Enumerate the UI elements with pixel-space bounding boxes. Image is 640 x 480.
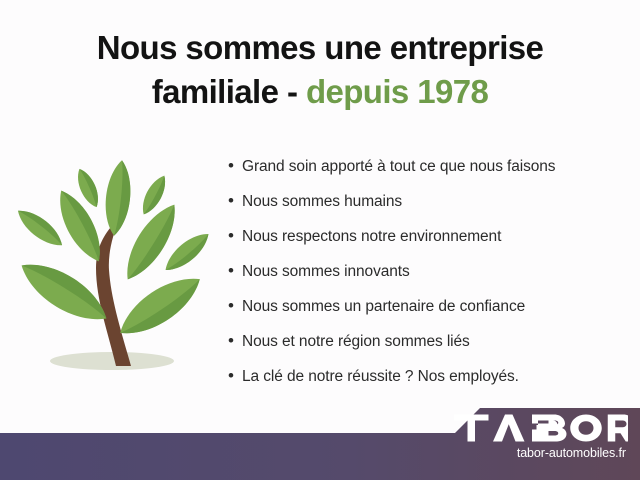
list-item-label: Nous et notre région sommes liés bbox=[242, 324, 470, 359]
footer-banner: tabor-automobiles.fr bbox=[0, 400, 640, 480]
headline-prefix-text: familiale bbox=[152, 73, 279, 110]
list-item: La clé de notre réussite ? Nos employés. bbox=[228, 358, 640, 393]
bullet-icon bbox=[228, 183, 242, 218]
page-title: Nous sommes une entreprise familiale - d… bbox=[0, 26, 640, 114]
bullet-icon bbox=[228, 288, 242, 323]
tree-trunk bbox=[96, 218, 131, 366]
list-item: Nous respectons notre environnement bbox=[228, 218, 640, 253]
bullet-icon bbox=[228, 253, 242, 288]
headline-dash: - bbox=[287, 73, 297, 110]
list-item-label: Nous respectons notre environnement bbox=[242, 219, 501, 254]
headline-line-1-text: Nous sommes une entreprise bbox=[97, 29, 544, 66]
bullet-icon bbox=[228, 218, 242, 253]
bullet-icon bbox=[228, 148, 242, 183]
bullet-icon bbox=[228, 323, 242, 358]
list-item-label: Nous sommes innovants bbox=[242, 254, 410, 289]
headline-line-1: Nous sommes une entreprise bbox=[0, 26, 640, 70]
brand-logo[interactable]: tabor-automobiles.fr bbox=[454, 413, 626, 460]
list-item: Nous sommes innovants bbox=[228, 253, 640, 288]
list-item: Nous sommes un partenaire de confiance bbox=[228, 288, 640, 323]
list-item: Nous sommes humains bbox=[228, 183, 640, 218]
tree-shadow bbox=[50, 352, 174, 370]
headline-line-2: familiale - depuis 1978 bbox=[0, 70, 640, 114]
headline-accent-text: depuis 1978 bbox=[306, 73, 488, 110]
bullet-icon bbox=[228, 358, 242, 393]
list-item-label: Nous sommes un partenaire de confiance bbox=[242, 289, 525, 324]
list-item-label: Grand soin apporté à tout ce que nous fa… bbox=[242, 149, 555, 184]
tabor-wordmark-icon bbox=[454, 413, 628, 443]
list-item-label: Nous sommes humains bbox=[242, 184, 402, 219]
slide-canvas: Nous sommes une entreprise familiale - d… bbox=[0, 0, 640, 480]
list-item: Nous et notre région sommes liés bbox=[228, 323, 640, 358]
brand-url-label: tabor-automobiles.fr bbox=[454, 446, 626, 460]
list-item-label: La clé de notre réussite ? Nos employés. bbox=[242, 359, 519, 394]
tree-icon bbox=[12, 150, 217, 385]
benefits-list: Grand soin apporté à tout ce que nous fa… bbox=[228, 148, 640, 393]
list-item: Grand soin apporté à tout ce que nous fa… bbox=[228, 148, 640, 183]
